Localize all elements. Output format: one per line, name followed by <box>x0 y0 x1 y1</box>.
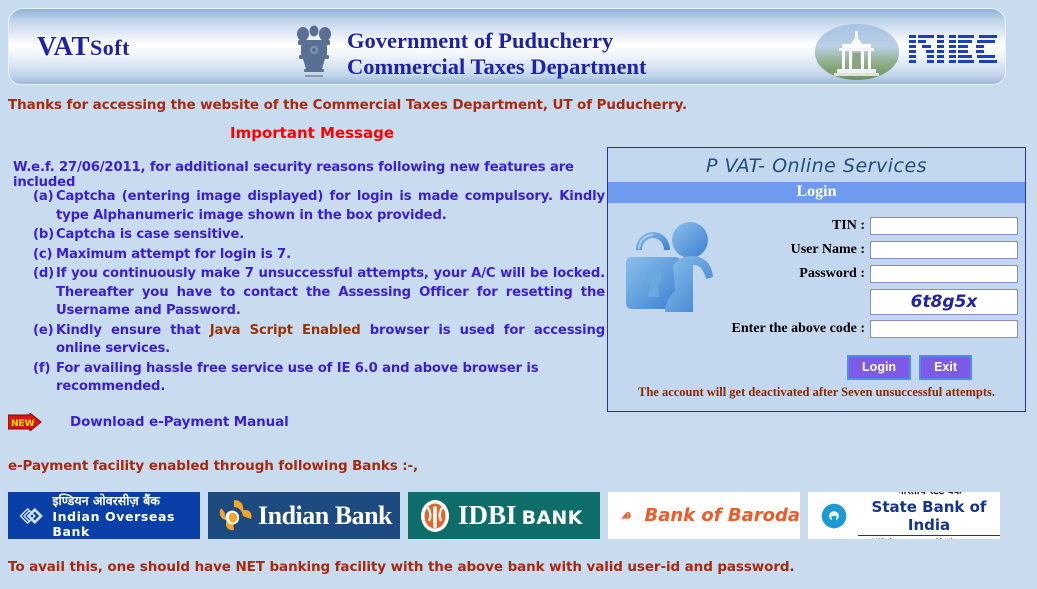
svg-text:NEW: NEW <box>11 419 35 429</box>
captcha-row: Enter the above code : <box>756 320 1018 338</box>
important-message-heading: Important Message <box>230 124 394 142</box>
tin-label: TIN : <box>832 218 865 234</box>
puducherry-monument-photo <box>815 24 899 80</box>
nic-logo <box>909 33 1001 67</box>
login-panel-subbar: Login <box>608 182 1025 203</box>
security-features-list: (a) Captcha (entering image displayed) f… <box>33 188 605 398</box>
list-item: (c) Maximum attempt for login is 7. <box>33 246 605 265</box>
password-label: Password : <box>799 266 865 282</box>
list-item: (e) Kindly ensure that Java Script Enabl… <box>33 322 605 359</box>
new-arrow-icon: NEW <box>8 413 42 431</box>
bank-logo-idbi-bank[interactable]: IDBI BANK <box>408 492 600 539</box>
bank-name-english: State Bank of India <box>858 498 1000 536</box>
bank-name-english-primary: IDBI <box>458 500 517 530</box>
iob-diamond-icon <box>16 501 46 531</box>
login-panel-body: TIN : User Name : Password : 6t8g5x Ente… <box>608 203 1025 416</box>
tin-input[interactable] <box>870 217 1018 235</box>
lock-user-icon <box>618 217 726 321</box>
exit-button[interactable]: Exit <box>919 355 972 380</box>
vatsoft-logo-vat: VAT <box>37 31 90 61</box>
list-item: (b) Captcha is case sensitive. <box>33 226 605 245</box>
captcha-text: 6t8g5x <box>911 292 978 312</box>
gov-title-line2: Commercial Taxes Department <box>347 54 647 80</box>
tin-row: TIN : <box>756 217 1018 235</box>
captcha-input[interactable] <box>870 320 1018 338</box>
username-label: User Name : <box>791 242 865 258</box>
epayment-footnote: To avail this, one should have NET banki… <box>8 559 795 575</box>
indian-bank-emblem-icon <box>214 496 256 536</box>
login-panel: P VAT- Online Services Login <box>607 147 1026 412</box>
list-item-text: Captcha is case sensitive. <box>56 226 605 245</box>
download-manual-row[interactable]: NEW Download e-Payment Manual <box>8 413 289 431</box>
list-item: (a) Captcha (entering image displayed) f… <box>33 188 605 225</box>
password-input[interactable] <box>870 265 1018 283</box>
captcha-image: 6t8g5x <box>870 289 1018 315</box>
captcha-label: Enter the above code : <box>732 321 866 337</box>
login-button-row: Login Exit <box>756 355 1018 380</box>
thanks-text: Thanks for accessing the website of the … <box>8 97 687 113</box>
vatsoft-logo: VATSoft <box>37 31 130 62</box>
list-item-text: If you continuously make 7 unsuccessful … <box>56 265 605 321</box>
bank-logo-strip: इण्डियन ओवरसीज़ बैंक Indian Overseas Ban… <box>8 492 1000 539</box>
list-item-tag: (d) <box>33 265 56 321</box>
login-warning-text: The account will get deactivated after S… <box>608 385 1025 400</box>
vatsoft-logo-soft: Soft <box>90 35 130 60</box>
idbi-emblem-icon <box>418 498 452 534</box>
bank-name-hindi: इण्डियन ओवरसीज़ बैंक <box>52 492 200 509</box>
list-item-text-pre: Kindly ensure that <box>56 323 210 338</box>
bank-name-english-secondary: BANK <box>522 507 583 529</box>
username-input[interactable] <box>870 241 1018 259</box>
wef-notice: W.e.f. 27/06/2011, for additional securi… <box>13 160 603 190</box>
baroda-sun-b-icon <box>620 496 632 536</box>
bank-logo-indian-overseas-bank[interactable]: इण्डियन ओवरसीज़ बैंक Indian Overseas Ban… <box>8 492 200 539</box>
list-item: (d) If you continuously make 7 unsuccess… <box>33 265 605 321</box>
list-item-text: For availing hassle free service use of … <box>56 360 605 397</box>
bank-logo-indian-bank[interactable]: Indian Bank <box>208 492 400 539</box>
login-panel-title: P VAT- Online Services <box>608 148 1025 182</box>
javascript-enabled-highlight: Java Script Enabled <box>210 323 361 338</box>
password-row: Password : <box>756 265 1018 283</box>
sbi-keyhole-icon <box>820 500 848 532</box>
bank-tagline: With you - all the way <box>858 538 1000 540</box>
login-form: TIN : User Name : Password : 6t8g5x Ente… <box>756 217 1018 344</box>
download-epayment-manual-link[interactable]: Download e-Payment Manual <box>70 414 289 430</box>
bank-name-english: Indian Overseas Bank <box>52 509 200 539</box>
list-item-text: Kindly ensure that Java Script Enabled b… <box>56 322 605 359</box>
list-item: (f) For availing hassle free service use… <box>33 360 605 397</box>
username-row: User Name : <box>756 241 1018 259</box>
login-button[interactable]: Login <box>847 355 911 380</box>
list-item-text: Captcha (entering image displayed) for l… <box>56 188 605 225</box>
list-item-tag: (e) <box>33 322 56 359</box>
epayment-heading: e-Payment facility enabled through follo… <box>8 458 418 474</box>
list-item-text: Maximum attempt for login is 7. <box>56 246 605 265</box>
site-header-banner: VATSoft Government of Puducherry Commerc… <box>9 9 1005 84</box>
list-item-tag: (c) <box>33 246 56 265</box>
gov-title-line1: Government of Puducherry <box>347 28 647 54</box>
list-item-tag: (b) <box>33 226 56 245</box>
bank-name-english: Bank of Baroda <box>644 505 800 526</box>
list-item-tag: (a) <box>33 188 56 225</box>
page-title: Government of Puducherry Commercial Taxe… <box>347 28 647 80</box>
bank-name-english: Indian Bank <box>258 501 392 531</box>
bank-logo-bank-of-baroda[interactable]: Bank of Baroda <box>608 492 800 539</box>
list-item-tag: (f) <box>33 360 56 397</box>
bank-logo-state-bank-of-india[interactable]: भारतीय स्टेट बैंक State Bank of India Wi… <box>808 492 1000 539</box>
ashoka-emblem-icon <box>292 23 336 81</box>
